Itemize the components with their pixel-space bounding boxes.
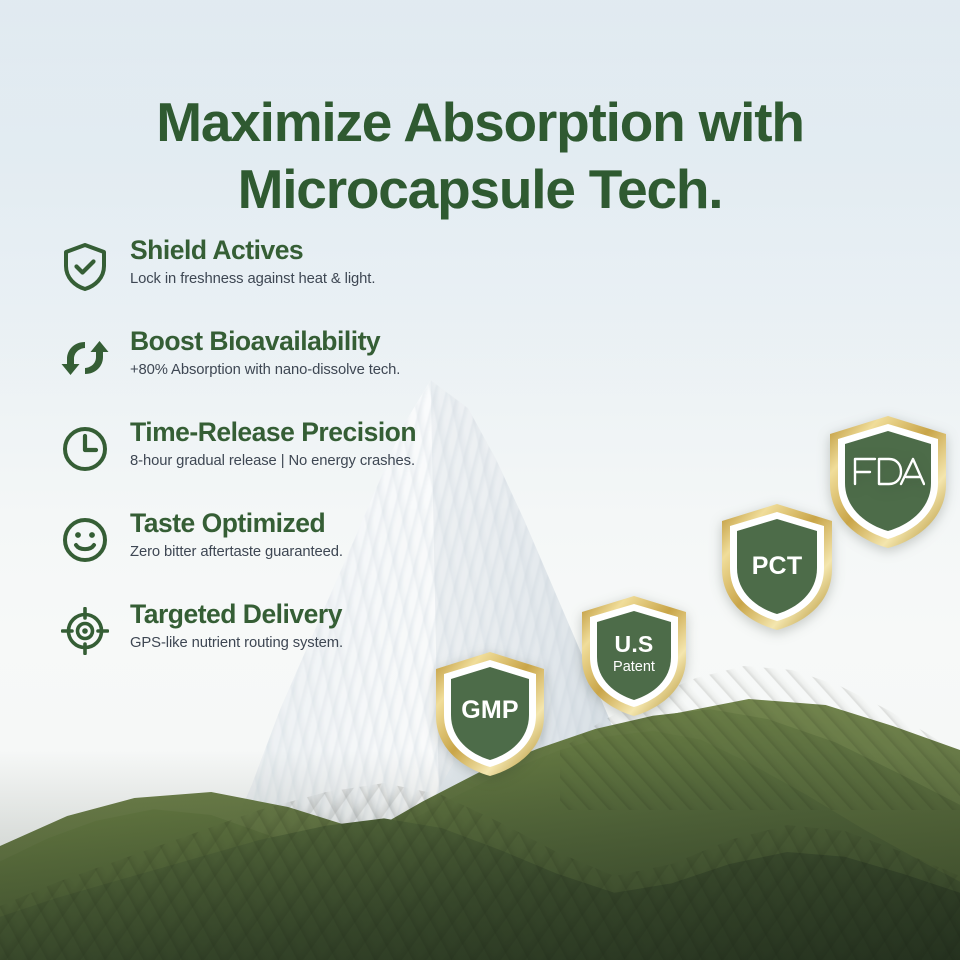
feature-title: Taste Optimized <box>130 509 528 539</box>
smiley-face-icon <box>58 513 112 567</box>
badge-label: PCT <box>718 554 836 579</box>
feature-title: Shield Actives <box>130 236 528 266</box>
feature-subtitle: +80% Absorption with nano-dissolve tech. <box>130 362 528 380</box>
badge-pct[interactable]: PCT <box>718 502 836 632</box>
page-title: Maximize Absorption with Microcapsule Te… <box>0 89 960 223</box>
headline-line-1: Maximize Absorption with <box>156 91 804 153</box>
crosshair-target-icon <box>58 604 112 658</box>
feature-list: Shield Actives Lock in freshness against… <box>58 236 528 691</box>
feature-item-shield-actives: Shield Actives Lock in freshness against… <box>58 236 528 310</box>
clock-icon <box>58 422 112 476</box>
feature-title: Boost Bioavailability <box>130 327 528 357</box>
badge-sublabel: Patent <box>578 660 690 675</box>
feature-subtitle: Lock in freshness against heat & light. <box>130 271 528 289</box>
feature-subtitle: Zero bitter aftertaste guaranteed. <box>130 544 528 562</box>
refresh-arrows-icon <box>58 331 112 385</box>
shield-check-icon <box>58 240 112 294</box>
badge-us-patent[interactable]: U.S Patent <box>578 594 690 718</box>
feature-item-boost-bioavailability: Boost Bioavailability +80% Absorption wi… <box>58 327 528 401</box>
fda-logotype-icon <box>826 454 950 488</box>
feature-subtitle: 8-hour gradual release | No energy crash… <box>130 453 528 471</box>
headline-line-2: Microcapsule Tech. <box>0 156 960 223</box>
badge-label: U.S <box>578 633 690 656</box>
promo-poster: Maximize Absorption with Microcapsule Te… <box>0 0 960 960</box>
feature-item-time-release-precision: Time-Release Precision 8-hour gradual re… <box>58 418 528 492</box>
feature-item-taste-optimized: Taste Optimized Zero bitter aftertaste g… <box>58 509 528 583</box>
feature-title: Time-Release Precision <box>130 418 528 448</box>
badge-fda[interactable] <box>826 414 950 550</box>
badge-gmp[interactable]: GMP <box>432 650 548 778</box>
badge-label: GMP <box>432 698 548 723</box>
feature-title: Targeted Delivery <box>130 600 528 630</box>
